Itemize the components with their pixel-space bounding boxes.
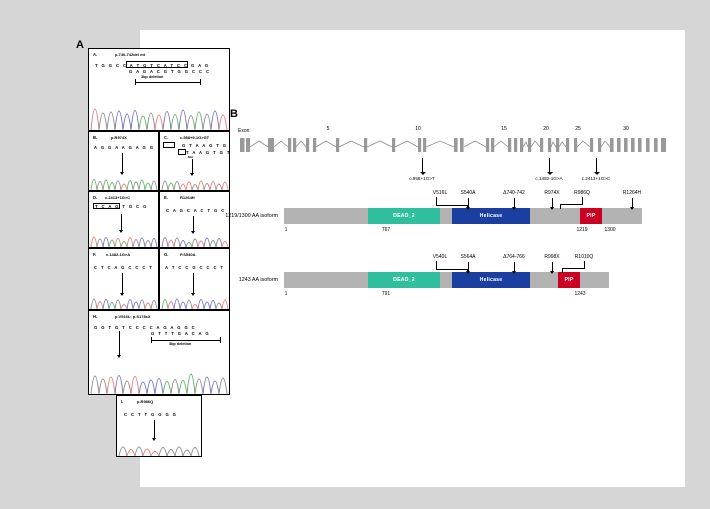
subpanel-h-id: H. — [93, 314, 97, 319]
exon-tick-30: 30 — [623, 126, 629, 132]
subpanel-a-id: A. — [93, 52, 97, 57]
isoform-1-label: 1219/1300 AA isoform — [140, 213, 278, 219]
isoform-1-start-pos: 1 — [285, 227, 288, 233]
subpanel-e-id: E. — [164, 195, 168, 200]
subpanel-h-chromatogram — [89, 350, 230, 394]
isoform-2-domain-boundary: 791 — [382, 291, 390, 297]
subpanel-d-title: c.2413+1G>C — [105, 195, 130, 200]
subpanel-e: E. R1264H C A G C A C T G C — [159, 191, 230, 248]
isoform-1-domain-dead2: DEAD_2 — [368, 208, 440, 224]
isoform-2-arrow-r998x — [552, 262, 553, 271]
subpanel-g-id: G. — [164, 252, 168, 257]
isoform-1-mut-r1264h: R1264H — [623, 190, 641, 196]
isoform-2-domain-helicase: Helicase — [452, 272, 530, 288]
subpanel-d-id: D. — [93, 195, 97, 200]
subpanel-b-title: p.R974X — [111, 135, 127, 140]
isoform-1-mut-v516l: V516L — [433, 190, 447, 196]
isoform-1-domain-helicase: Helicase — [452, 208, 530, 224]
isoform-1-arrow-s540a — [468, 198, 469, 207]
subpanel-f-chromatogram — [89, 283, 159, 309]
subpanel-i: I. p.R986Q C C T T G G G G — [116, 395, 202, 457]
subpanel-c: C. c.958+5-1G>GT G T A A G T G T T T A A… — [159, 131, 230, 191]
subpanel-c-id: C. — [164, 135, 168, 140]
isoform-1-mut-r974x: R974X — [544, 190, 559, 196]
isoform-1-arrow-r1264h — [632, 198, 633, 207]
exon-axis-label: Exon — [238, 128, 249, 134]
subpanel-i-chromatogram — [117, 432, 202, 456]
subpanel-a-seq-bottom: G A G A C G T G G C C C — [129, 69, 210, 74]
isoform-1-arrow-del740 — [514, 198, 515, 207]
isoform-2-domain-dead2: DEAD_2 — [368, 272, 440, 288]
isoform-2-elbow-r1010q — [562, 261, 588, 273]
exon-tick-20: 20 — [543, 126, 549, 132]
subpanel-f-seq-top: C T C A G C C C T — [94, 265, 153, 270]
subpanel-f-id: F. — [93, 252, 96, 257]
subpanel-c-box-wt — [163, 142, 175, 148]
isoform-1-end-pos-1300: 1300 — [604, 227, 615, 233]
splice-arrow-3 — [596, 158, 597, 172]
exon-intron-track — [240, 136, 670, 156]
subpanel-a-seq-box — [126, 61, 188, 68]
isoform-2-domain-pip: PIP — [558, 272, 580, 288]
exon-tick-25: 25 — [575, 126, 581, 132]
isoform-2-label: 1243 AA isoform — [140, 277, 278, 283]
splice-label-2: c.1482-1G>A — [535, 176, 562, 181]
subpanel-d-seq-box — [93, 203, 120, 209]
isoform-2-mut-r1010q: R1010Q — [575, 254, 594, 260]
subpanel-e-title: R1264H — [180, 195, 195, 200]
subpanel-h-title: p.V516L; p.S178sX — [115, 314, 151, 319]
subpanel-g-title: P.S540A — [180, 252, 196, 257]
subpanel-b-seq-top: A G G A A G A G G — [94, 145, 154, 150]
subpanel-c-chromatogram — [160, 166, 230, 190]
subpanel-c-box-mut — [178, 149, 186, 155]
subpanel-a-chromatogram — [89, 82, 230, 130]
subpanel-h-deletion-bar — [151, 340, 221, 341]
isoform-2-mut-v540l: V540L — [433, 254, 447, 260]
exon-tick-5: 5 — [327, 126, 330, 132]
splice-arrow-2 — [549, 158, 550, 172]
isoform-1-bar: DEAD_2 Helicase PIP — [284, 208, 642, 224]
isoform-1-domain-pip: PIP — [580, 208, 602, 224]
subpanel-a-title: p.740-742del mt — [115, 52, 145, 57]
subpanel-a-deletion-label: 3bp deletion — [141, 75, 163, 79]
isoform-2-bar: DEAD_2 Helicase PIP — [284, 272, 609, 288]
subpanel-c-title: c.958+5-1G>GT — [180, 135, 209, 140]
isoform-1-mut-r986q: R986Q — [574, 190, 590, 196]
isoform-1-arrow-r974x — [552, 198, 553, 207]
subpanel-h: H. p.V516L; p.S178sX G G T G T C C C C A… — [88, 310, 230, 395]
isoform-1-mut-s540a: S540A — [460, 190, 475, 196]
subpanel-a: A. p.740-742del mt T G G C C A T G T C A… — [88, 48, 230, 131]
subpanel-g-chromatogram — [160, 283, 230, 309]
isoform-2-mut-r998x: R998X — [544, 254, 559, 260]
exon-tick-10: 10 — [415, 126, 421, 132]
isoform-2-arrow-s564a — [468, 262, 469, 271]
subpanel-b-id: B. — [93, 135, 97, 140]
subpanel-b-chromatogram — [89, 164, 159, 190]
subpanel-h-seq-bottom: G T T T G A C A G — [151, 331, 210, 336]
subpanel-g-seq-top: A T C C G C C C T — [165, 265, 224, 270]
isoform-2-start-pos: 1 — [285, 291, 288, 297]
subpanel-i-id: I. — [121, 399, 123, 404]
isoform-2-arrow-del764 — [514, 262, 515, 271]
isoform-2-mut-s564a: S564A — [460, 254, 475, 260]
isoform-2-end-pos: 1243 — [574, 291, 585, 297]
isoform-1-elbow-r986q — [560, 197, 586, 209]
isoform-1-end-pos-1219: 1219 — [576, 227, 587, 233]
subpanel-d-chromatogram — [89, 221, 159, 247]
isoform-1-mut-del740: Δ740-742 — [503, 190, 525, 196]
subpanel-d: D. c.2413+1G>C T C A G T G C G — [88, 191, 159, 248]
subpanel-b: B. p.R974X A G G A A G A G G — [88, 131, 159, 191]
subpanel-h-deletion-label: 3bp deletion — [169, 342, 191, 346]
subpanel-f-title: c.1482-1G>A — [106, 252, 130, 257]
splice-label-3: c.2413+1G>C — [582, 176, 611, 181]
subpanel-h-seq-top: G G T G T C C C C A G A G G C — [94, 325, 196, 330]
exon-tick-15: 15 — [501, 126, 507, 132]
panel-a-letter: A — [76, 39, 84, 51]
subpanel-e-chromatogram — [160, 222, 230, 247]
figure-page: A A. p.740-742del mt T G G C C A T G T C… — [140, 30, 685, 487]
subpanel-i-seq-top: C C T T G G G G — [124, 412, 177, 417]
isoform-2-mut-del764: Δ764-766 — [503, 254, 525, 260]
isoform-1-domain-boundary: 767 — [382, 227, 390, 233]
splice-arrow-1 — [422, 158, 423, 172]
splice-label-1: c.958+1G>T — [409, 176, 435, 181]
panel-a: A. p.740-742del mt T G G C C A T G T C A… — [88, 48, 230, 483]
panel-b-letter: B — [230, 108, 238, 120]
subpanel-i-title: p.R986Q — [137, 399, 153, 404]
subpanel-c-seq-top: G T A A G T G T T — [182, 143, 230, 148]
